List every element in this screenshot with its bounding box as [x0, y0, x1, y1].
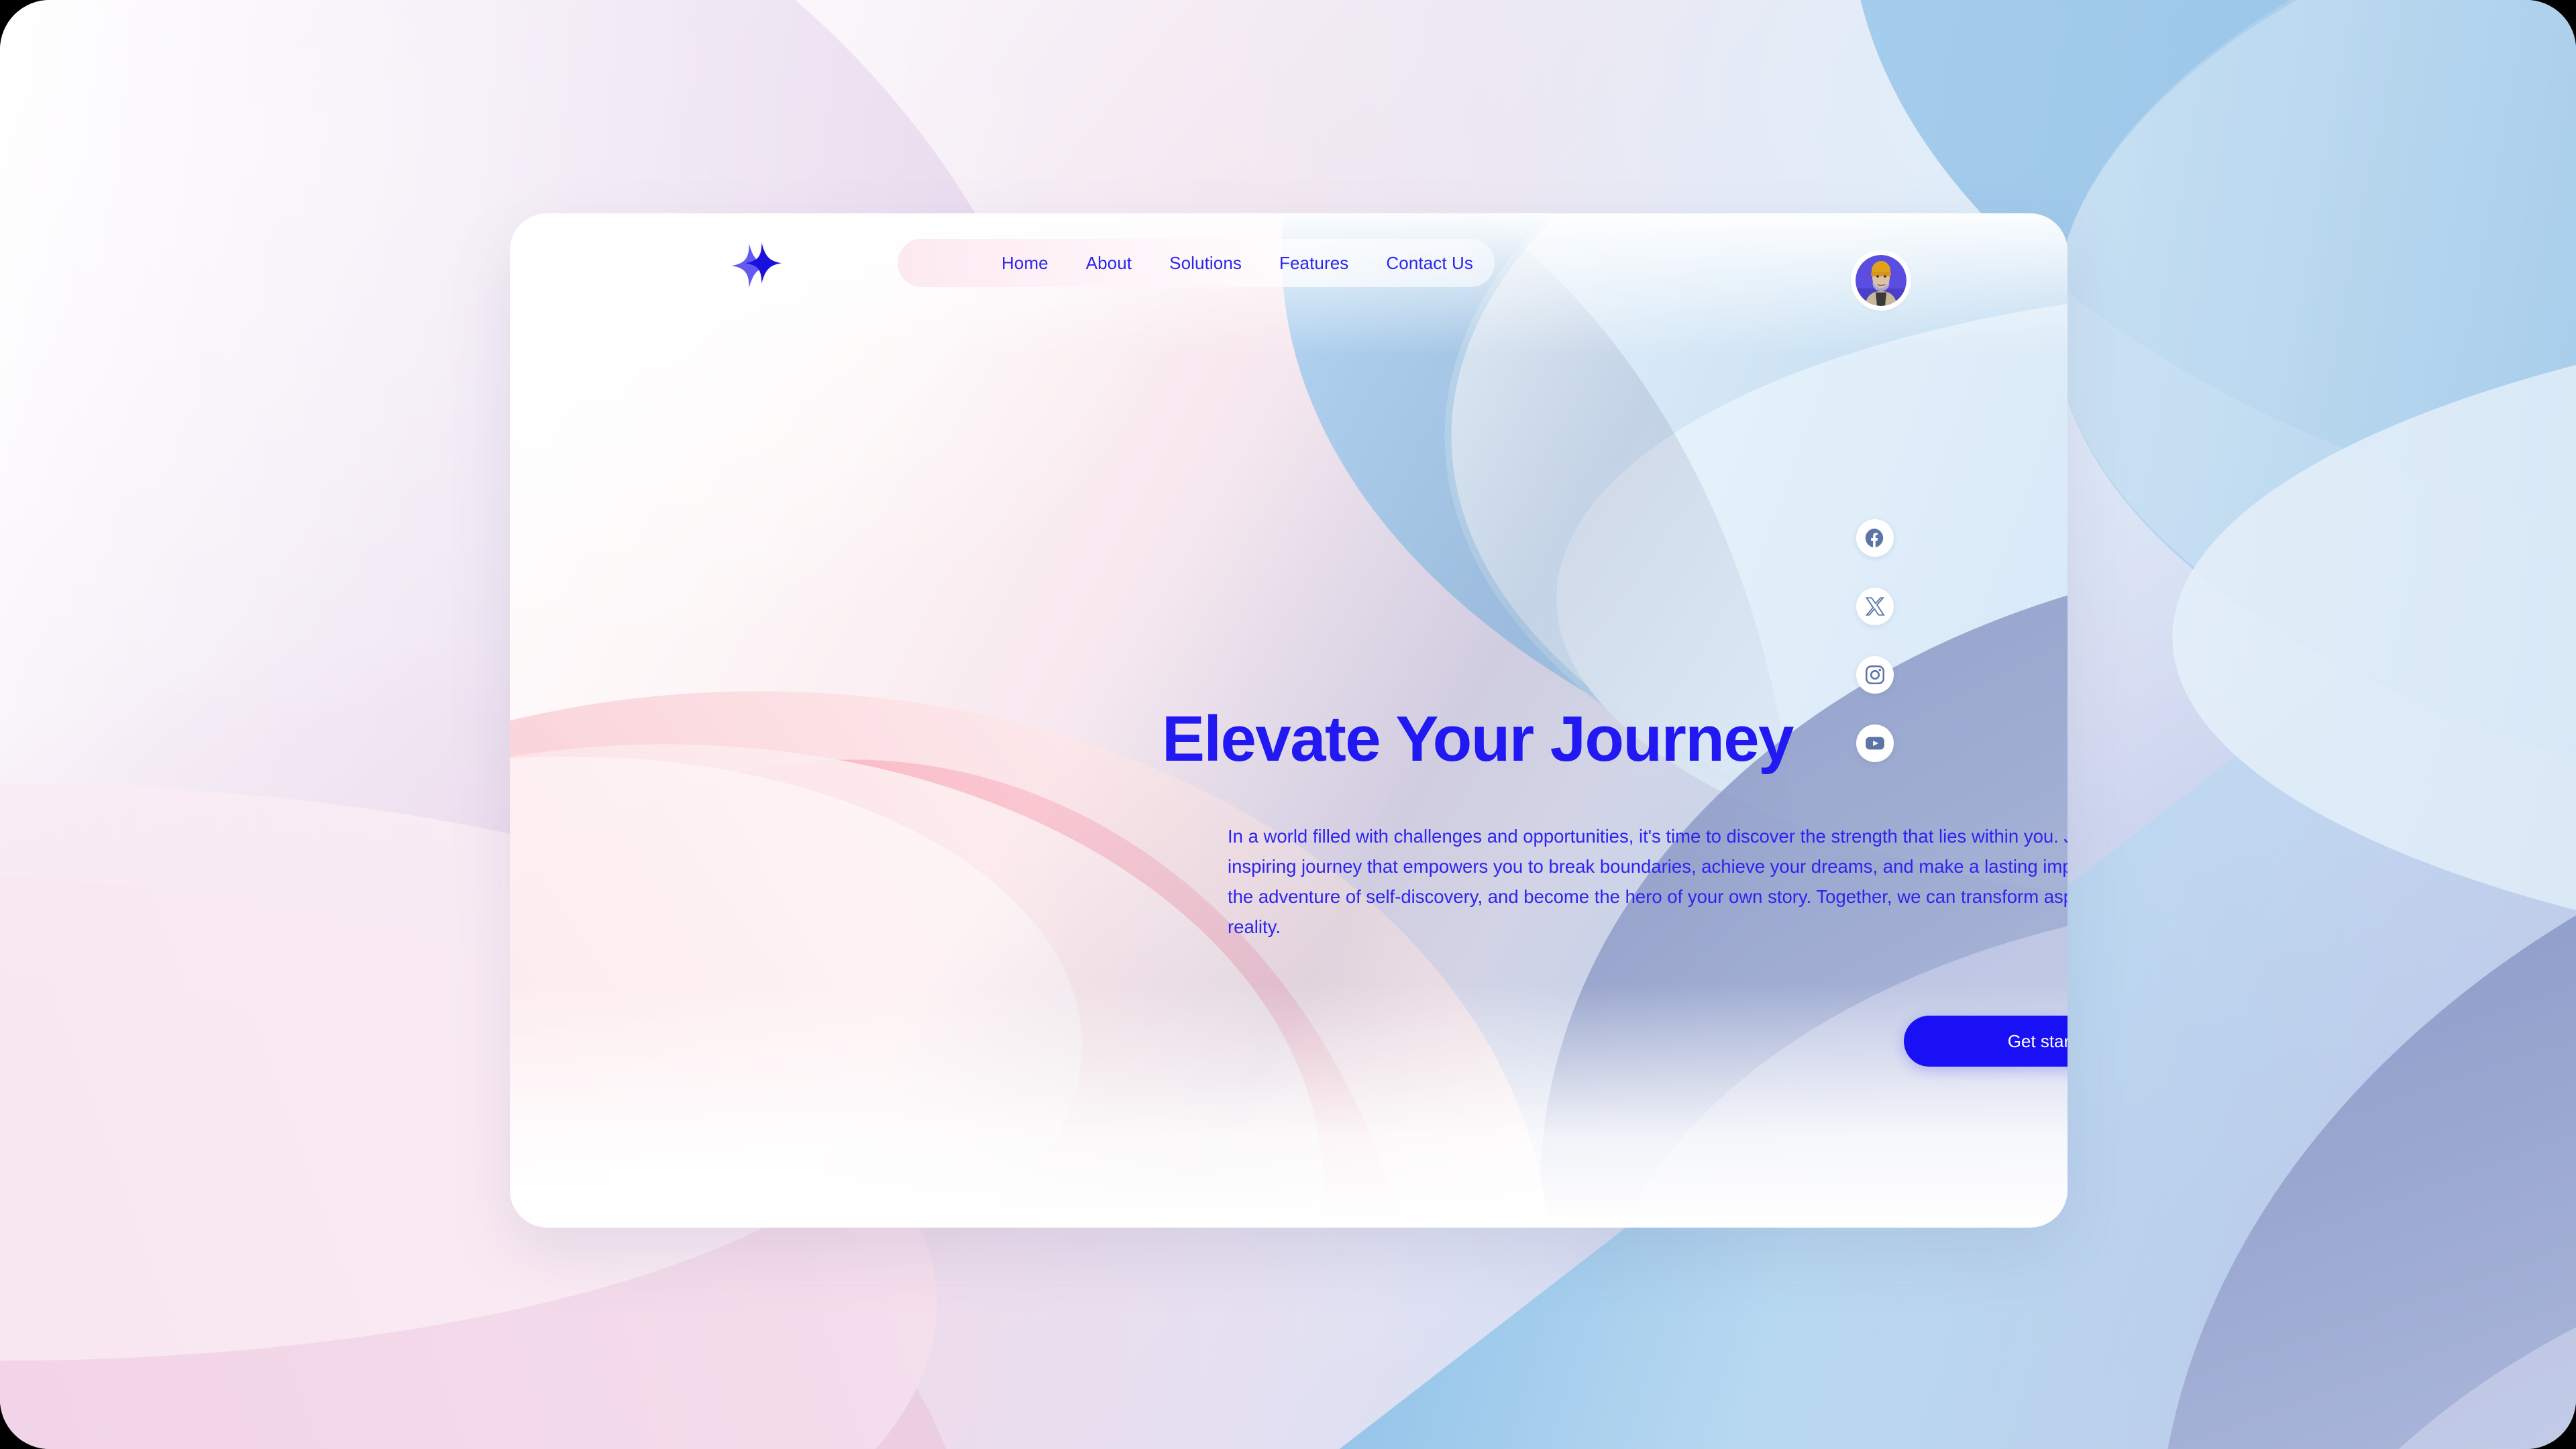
- x-twitter-icon[interactable]: [1856, 588, 1894, 625]
- youtube-icon[interactable]: [1856, 724, 1894, 762]
- nav-item-home[interactable]: Home: [979, 239, 1067, 287]
- instagram-icon[interactable]: [1856, 656, 1894, 694]
- nav-item-features[interactable]: Features: [1260, 239, 1367, 287]
- hero-card: Home About Solutions Features Contact Us…: [510, 213, 2068, 1228]
- screen-canvas: Home About Solutions Features Contact Us…: [0, 0, 2576, 1449]
- nav-item-contact[interactable]: Contact Us: [1367, 239, 1492, 287]
- main-nav: Home About Solutions Features Contact Us: [898, 239, 1495, 287]
- nav-item-about[interactable]: About: [1067, 239, 1150, 287]
- site-header: Home About Solutions Features Contact Us…: [510, 213, 2068, 314]
- nav-item-solutions[interactable]: Solutions: [1150, 239, 1260, 287]
- hero-paragraph: In a world filled with challenges and op…: [1228, 821, 2068, 942]
- sparkle-logo-icon[interactable]: [729, 237, 782, 290]
- get-started-button[interactable]: Get started: [1904, 1016, 2068, 1067]
- facebook-icon[interactable]: [1856, 519, 1894, 557]
- social-rail: [1856, 519, 1894, 762]
- page-title: Elevate Your Journey: [1162, 706, 1793, 772]
